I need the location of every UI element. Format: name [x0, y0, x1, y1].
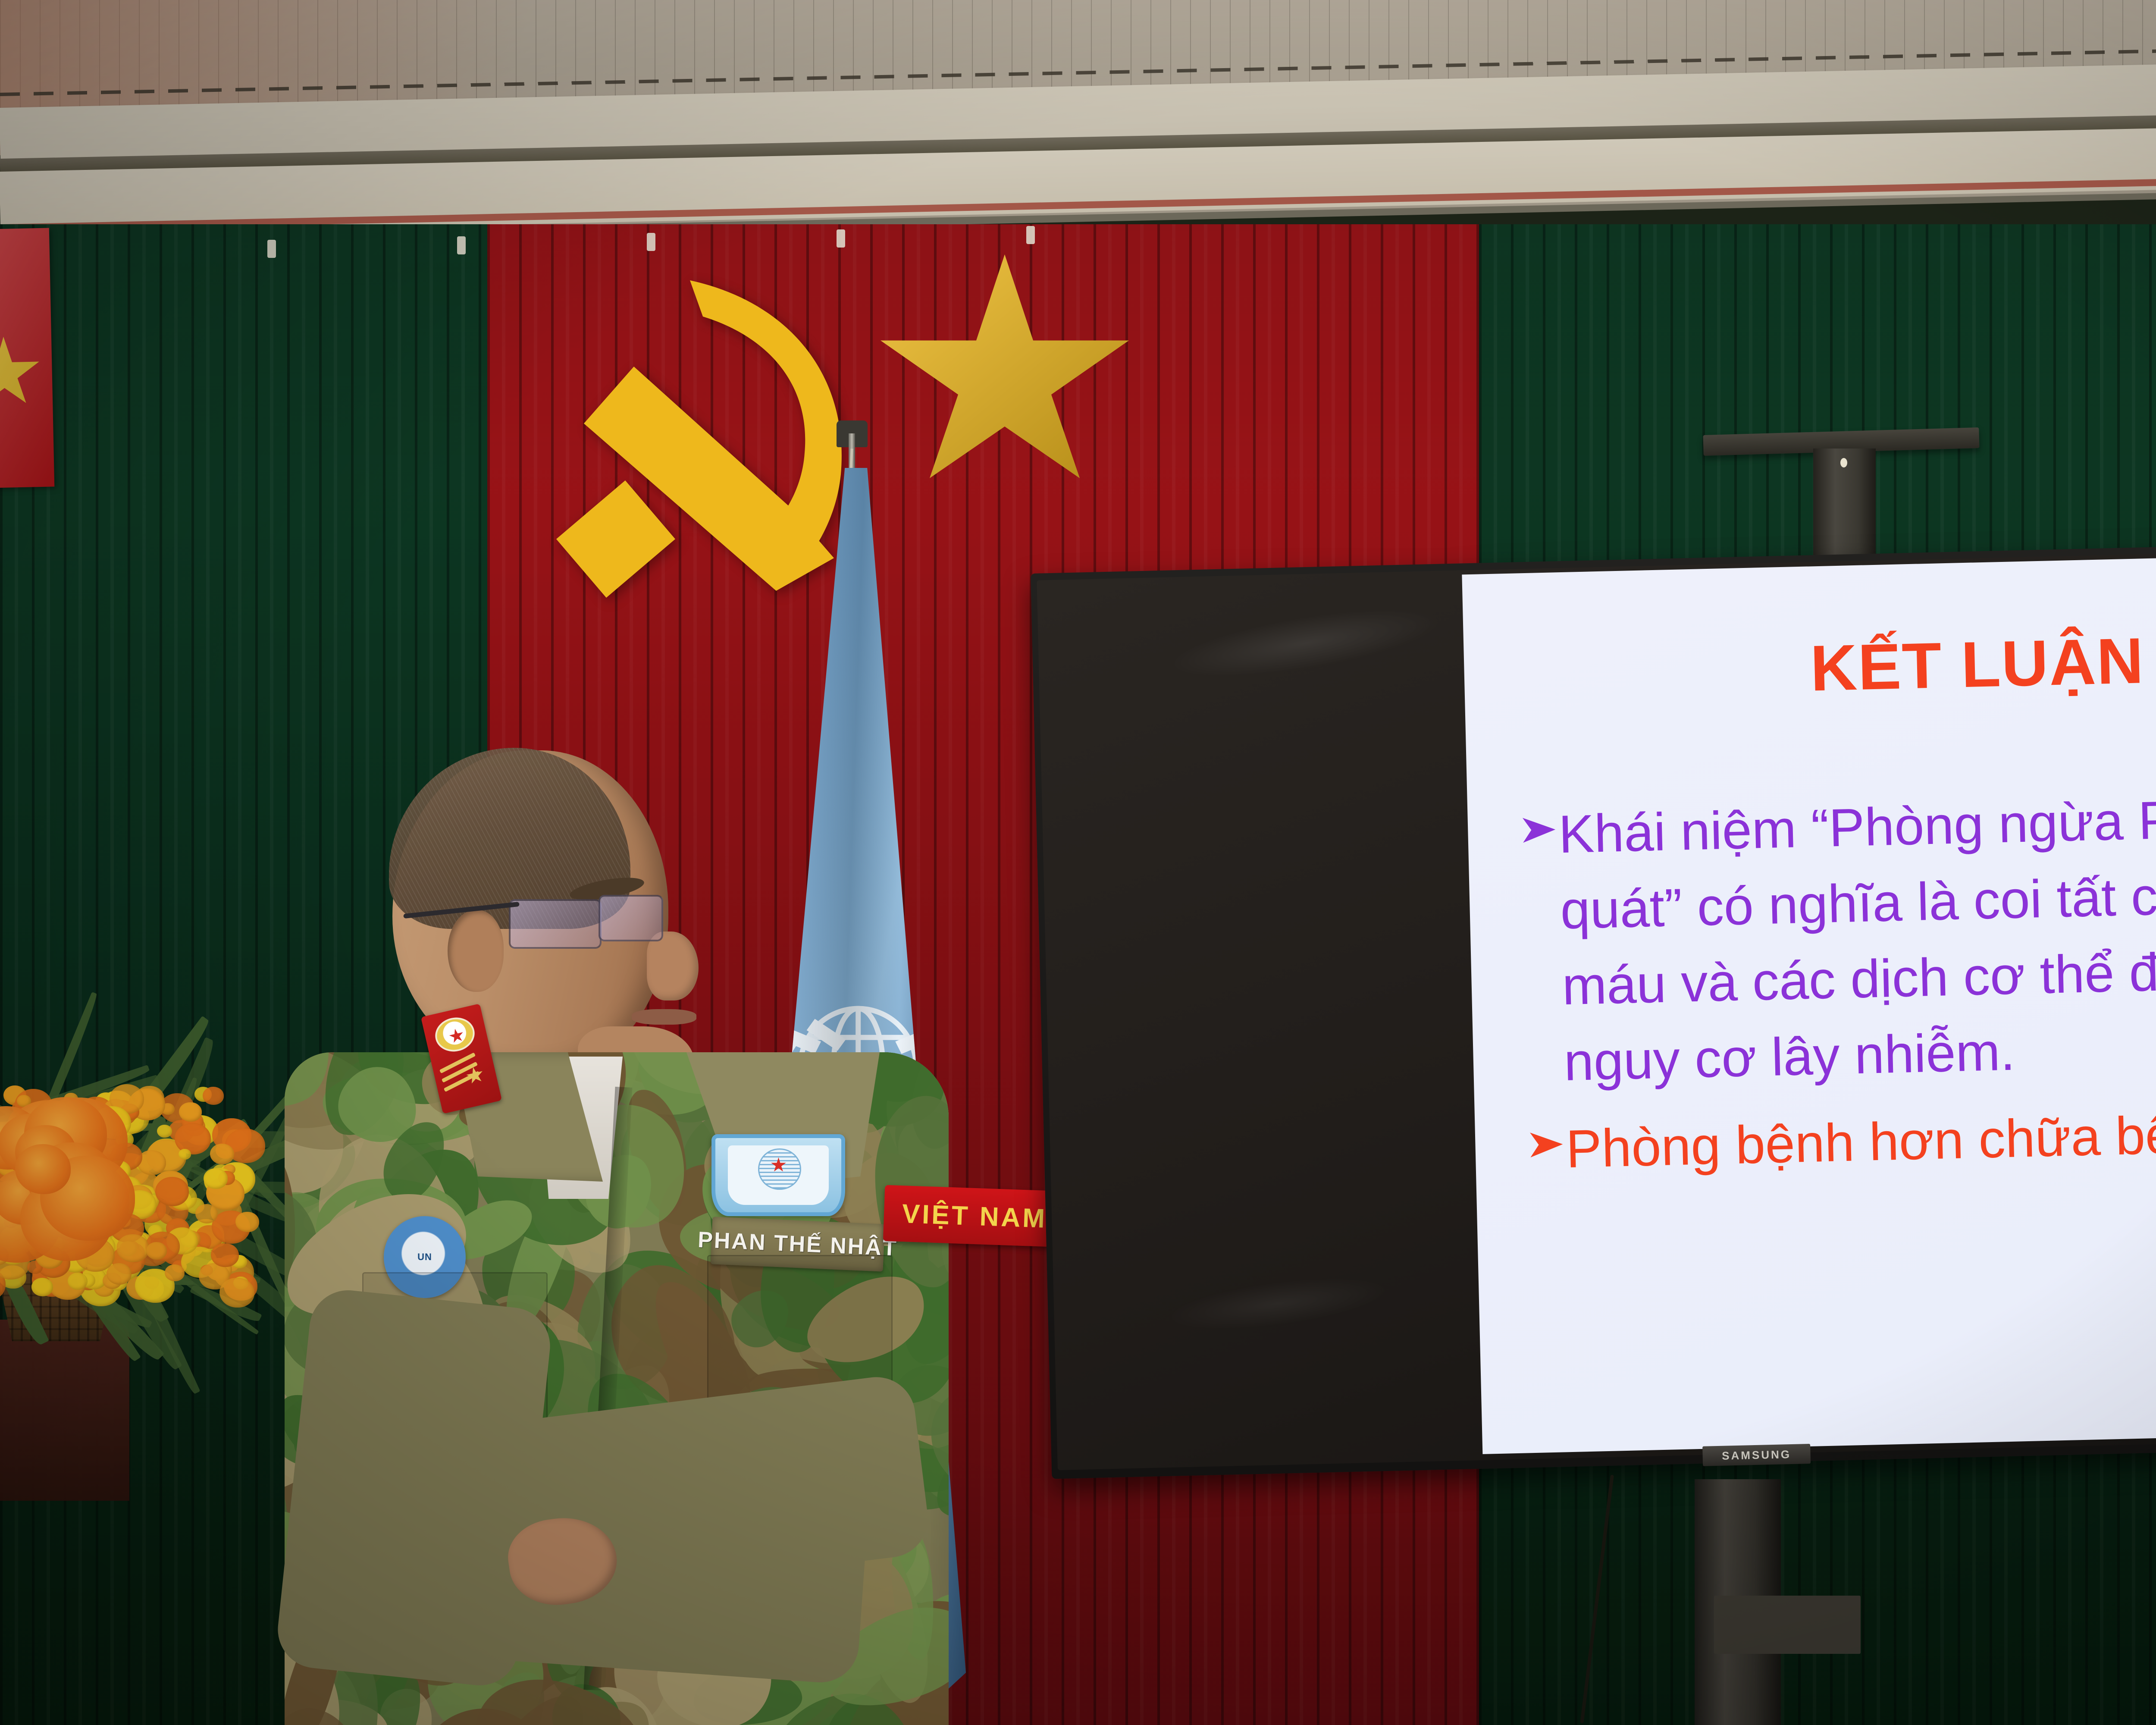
flower-blossom	[179, 1102, 202, 1122]
television: KẾT LUẬN Khái niệm “Phòng ngừa Phổ quát”…	[1031, 536, 2156, 1479]
bullet-text: Phòng bệnh hơn chữa bệnh.	[1565, 1090, 2156, 1188]
flower-blossom	[195, 1204, 218, 1223]
flower-blossom	[179, 1149, 191, 1160]
flower-blossom	[219, 1278, 254, 1308]
country-tape: VIỆT NAM	[883, 1185, 1066, 1248]
flower-blossom	[31, 1278, 53, 1296]
curtain-hook	[1026, 226, 1035, 244]
bullet-item: Phòng bệnh hơn chữa bệnh.	[1526, 1090, 2156, 1189]
presentation-slide: KẾT LUẬN Khái niệm “Phòng ngừa Phổ quát”…	[1462, 550, 2156, 1454]
slide-body: Khái niệm “Phòng ngừa Phổ quát” có nghĩa…	[1519, 775, 2156, 1189]
curtain-hook	[647, 233, 655, 251]
lips	[632, 1009, 696, 1025]
rank-emblem-icon	[432, 1014, 478, 1056]
flower-blossom	[211, 1243, 239, 1267]
flower-blossom	[165, 1264, 185, 1281]
bullet-line: Khái niệm “Phòng ngừa Phổ	[1558, 775, 2156, 873]
flower-blossom	[235, 1212, 259, 1232]
tv-stand-plate	[1714, 1596, 1861, 1654]
vietnam-flag-shading	[0, 228, 54, 488]
flower-blossom	[116, 1234, 149, 1262]
flower-blossom	[107, 1263, 132, 1285]
vietnam-flag	[0, 228, 54, 488]
flower-blossom	[146, 1242, 167, 1260]
curtain-hook	[837, 229, 845, 248]
flower-blossom	[155, 1177, 189, 1206]
flower-blossom	[157, 1125, 172, 1138]
flower-blossom	[204, 1168, 228, 1189]
presentation-scene: UN PHAN THẾ NHẬT VIỆT NAM KẾT LUẬN	[0, 0, 2156, 1725]
flower-blossom	[203, 1087, 224, 1105]
eyeglasses	[509, 895, 690, 964]
arrow-bullet-icon	[1526, 1121, 1567, 1168]
bullet-item: Khái niệm “Phòng ngừa Phổ	[1519, 775, 2156, 874]
peacekeeping-chest-patch	[711, 1134, 845, 1216]
curtain-hook	[457, 236, 466, 254]
flower-pedestal	[0, 1320, 129, 1501]
rank-emblem-star-icon	[448, 1027, 465, 1045]
country-tape-label: VIỆT NAM	[902, 1198, 1048, 1234]
hammer-and-sickle-icon	[530, 254, 962, 608]
flower-blossom	[210, 1144, 234, 1164]
tv-brand-logo: SAMSUNG	[1702, 1444, 1811, 1466]
forearm-folded	[392, 1489, 868, 1685]
arrow-bullet-icon	[1519, 806, 1559, 853]
bullet-text: Khái niệm “Phòng ngừa Phổ	[1558, 775, 2156, 873]
bullet-line: Phòng bệnh hơn chữa bệnh.	[1565, 1090, 2156, 1188]
rack-indicator-light	[1840, 458, 1847, 467]
flower-arrangement	[0, 1005, 276, 1333]
ear	[448, 910, 504, 992]
curtain-hook	[267, 240, 276, 258]
tv-brand-label: SAMSUNG	[1722, 1448, 1792, 1463]
flower-blossom	[175, 1123, 211, 1154]
slide-title: KẾT LUẬN	[1463, 615, 2156, 714]
presenter-person: UN PHAN THẾ NHẬT VIỆT NAM	[267, 724, 1000, 1725]
orange-rose	[15, 1144, 71, 1194]
flower-blossom	[68, 1273, 88, 1290]
